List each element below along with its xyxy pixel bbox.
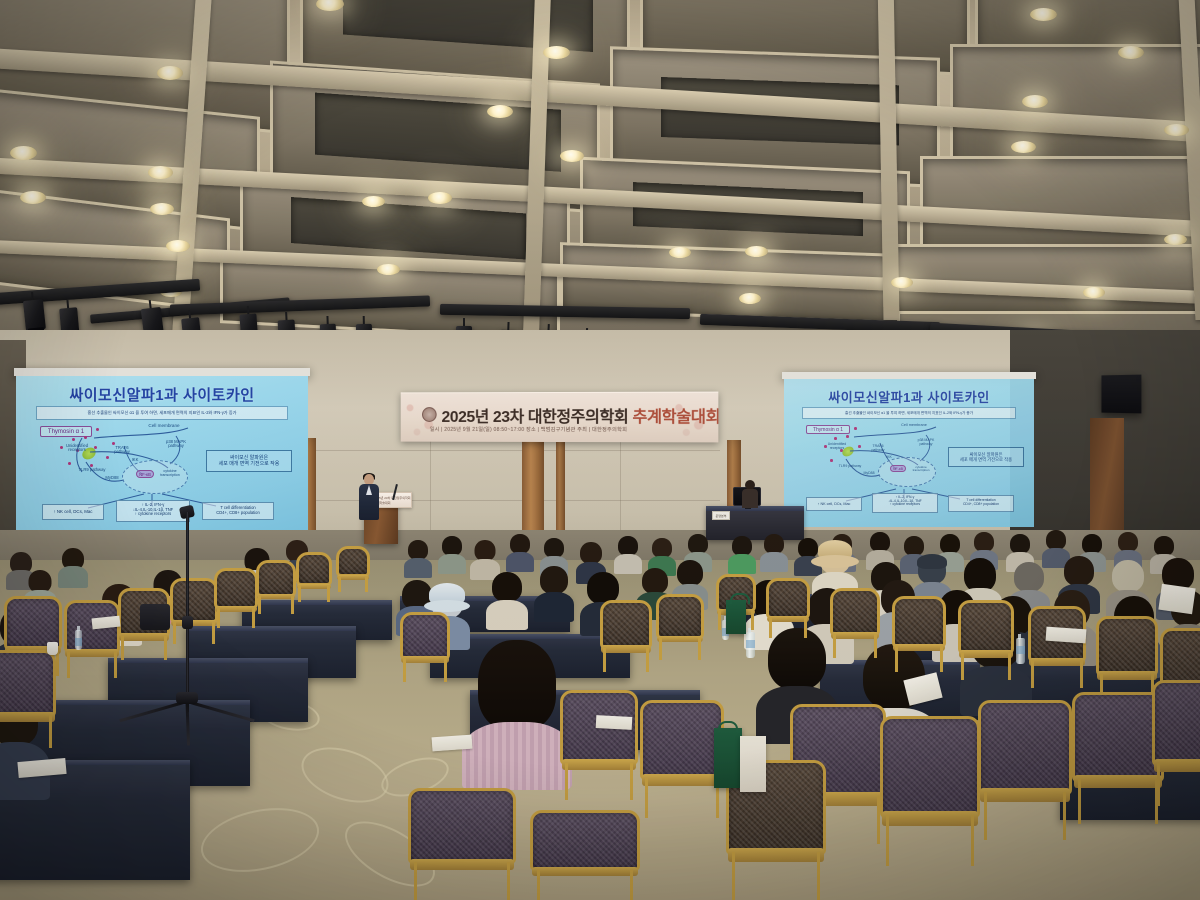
audience-member-foreground	[462, 640, 572, 790]
event-banner: 2025년 23차 대한정주의학회 추계학술대회 일시 | 2025년 9월 2…	[401, 392, 719, 443]
program-paper	[1046, 627, 1087, 644]
banner-subtitle: 일시 | 2025년 9월 21일(일) 08:50~17:00 장소 | 백범…	[430, 426, 700, 433]
banquet-chair	[64, 600, 120, 678]
banquet-chair	[256, 560, 296, 614]
ceiling-downlight	[669, 247, 691, 258]
coffer-recess	[291, 197, 526, 259]
slide-label-unidentified-receptors-right: Unidentified receptors	[822, 443, 852, 450]
banner-title-prefix: 2025년 23차 대한정주의학회	[442, 409, 633, 426]
audience-member	[404, 540, 432, 578]
banquet-chair	[170, 578, 218, 644]
ceiling-downlight	[428, 192, 452, 204]
wall-seam	[300, 450, 720, 451]
banquet-chair	[892, 596, 946, 672]
ceiling-downlight	[20, 191, 46, 204]
banquet-chair	[214, 568, 258, 628]
ceiling-downlight	[157, 66, 183, 80]
audience-member	[728, 536, 756, 574]
mic-stand-clutch	[182, 616, 193, 629]
coffer-recess	[343, 0, 593, 52]
slide-label-tlr9-right: TLR9 pathway	[838, 465, 862, 469]
ceiling-downlight	[891, 277, 913, 288]
slide-label-traf6-right: TRAF6 pathway	[866, 445, 890, 452]
ceiling-downlight	[1118, 46, 1144, 59]
handbag	[140, 604, 170, 630]
callout-line-2-right: 세포 매개 면역 기전으로 작용	[960, 457, 1012, 462]
banquet-chair	[830, 588, 880, 658]
screen-roller-right	[782, 372, 1036, 379]
banquet-chair	[766, 578, 810, 638]
banner-title-accent: 추계학술대회	[632, 409, 718, 426]
banquet-chair	[1152, 680, 1200, 806]
banquet-chair	[880, 716, 980, 866]
ceiling-downlight	[377, 264, 400, 275]
ceiling-downlight	[560, 150, 584, 162]
slide-label-cell-membrane: Cell membrane	[134, 424, 194, 429]
conference-tote-bag	[714, 728, 742, 788]
mic-stand-base	[176, 692, 198, 704]
water-bottle	[1016, 638, 1025, 664]
box-mid-line-3-right: ↑ cytokine receptors	[890, 502, 920, 506]
slide-label-cell-membrane-right: Cell membrane	[888, 423, 940, 427]
slide-box-left: ↑ NK cell, DCs, Mac	[42, 504, 104, 520]
slide-box-middle-right: ↑ IL-2, IFN-γ ↓IL-4,IL-10,IL-1β, TNF ↑ c…	[872, 493, 938, 513]
slide-label-transcription: cytokine transcription	[156, 470, 184, 478]
ceiling-coffer	[920, 156, 1200, 256]
banquet-chair	[1028, 606, 1086, 688]
slide-box-left-right: ↑ NK cell, DCs, Mac	[806, 497, 862, 511]
banquet-chair	[560, 690, 638, 800]
callout-line-2: 세포 매개 면역 기전으로 작용	[219, 461, 280, 467]
ceiling-downlight	[1164, 124, 1189, 136]
audience-member	[438, 536, 466, 574]
slide-box-right: T cell differentiation CD4+, CD8+ popula…	[202, 502, 274, 520]
operator-desk-card: 운영본부	[712, 511, 730, 520]
operator-person	[742, 480, 758, 508]
slide-label-nfkb-right: NF-κB	[890, 465, 906, 472]
audience-member	[58, 548, 88, 588]
slide-box-right-right: T cell differentiation CD4+, CD8+ popula…	[948, 495, 1014, 512]
banquet-chair	[530, 810, 640, 900]
ceiling-downlight	[362, 196, 385, 207]
conference-hall-photo: 싸이모신알파1과 사이토카인 흉선 추출물인 싸이모신 α1 을 투여 하면, …	[0, 0, 1200, 900]
banner-title: 2025년 23차 대한정주의학회 추계학술대회	[442, 403, 706, 427]
ceiling-downlight	[1030, 8, 1057, 21]
program-paper	[432, 735, 473, 752]
audience-member	[534, 566, 574, 622]
slide-label-myd88-right: MyD88	[860, 472, 878, 476]
mic-stand-pole	[186, 512, 189, 712]
ceiling-downlight	[739, 293, 761, 304]
ceiling-speaker-icon	[1101, 375, 1141, 414]
projection-screen-right[interactable]: 싸이모신알파1과 사이토카인 흉선 추출물인 싸이모신 α1 을 투여 하면, …	[784, 379, 1034, 527]
audience-member	[760, 534, 788, 572]
banquet-chair	[0, 650, 56, 748]
speaker-at-podium	[358, 474, 380, 520]
screen-roller-left	[14, 368, 310, 376]
banquet-chair	[958, 600, 1014, 680]
paper-cup	[47, 642, 58, 655]
slide-label-p38-mapk: p38 MAPK pathway	[160, 440, 192, 449]
ceiling-downlight	[150, 203, 174, 215]
carpet-pattern	[294, 737, 395, 812]
slide-label-p38-mapk-right: p38 MAPK pathway	[912, 439, 940, 446]
ceiling-downlight	[1022, 95, 1048, 108]
water-bottle	[746, 632, 755, 658]
ceiling-downlight	[1164, 234, 1187, 245]
banquet-chair	[296, 552, 332, 602]
banquet-chair	[1072, 692, 1164, 824]
banquet-chair	[600, 600, 652, 672]
banquet-chair	[978, 700, 1072, 840]
banquet-chair	[408, 788, 516, 900]
coffer-recess	[315, 93, 561, 172]
box-right-line-2: CD4+, CD8+ population	[216, 510, 259, 515]
ceiling-downlight	[1083, 287, 1105, 298]
slide-label-myd88: MyD88	[102, 476, 122, 480]
banquet-chair	[640, 700, 724, 818]
slide-label-unidentified-receptors: Unidentified receptors	[60, 444, 94, 453]
ceiling-downlight	[166, 240, 190, 252]
program-paper	[1158, 584, 1195, 614]
conference-tote-bag	[726, 600, 746, 634]
banquet-chair	[336, 546, 370, 592]
carpet-pattern	[195, 798, 325, 882]
slide-label-transcription-right: cytokine transcription	[908, 466, 934, 472]
ceiling-downlight	[148, 166, 173, 179]
program-paper	[596, 715, 633, 730]
banquet-chair	[400, 612, 450, 682]
projection-screen-left[interactable]: 싸이모신알파1과 사이토카인 흉선 추출물인 싸이모신 α1 을 투여 하면, …	[16, 376, 308, 536]
box-mid-line-3: ↑ cytokine receptors	[135, 511, 171, 516]
slide-callout: 싸이모신 알파원은 세포 매개 면역 기전으로 작용	[206, 450, 292, 472]
ceiling-downlight	[487, 105, 513, 118]
ceiling-downlight	[543, 46, 570, 59]
ceiling-downlight	[1011, 141, 1036, 153]
slide-callout-right: 싸이모신 알파원은 세포 매개 면역 기전으로 작용	[948, 447, 1024, 467]
banquet-chair	[656, 594, 704, 660]
slide-label-traf6: TRAF6 pathway	[108, 446, 136, 455]
water-bottle	[75, 630, 82, 650]
slide-label-nfkb: NF-κB	[136, 470, 154, 478]
ceiling-downlight	[10, 146, 37, 160]
society-emblem-icon	[422, 407, 437, 422]
stage-spotlight	[22, 291, 46, 331]
ceiling-downlight	[745, 246, 768, 257]
box-right-line-2-right: CD4+, CD8+ population	[963, 502, 999, 506]
conference-tote-bag-white	[740, 736, 766, 792]
audience-member	[486, 572, 528, 630]
slide-label-tlr9: TLR9 pathway	[78, 468, 106, 472]
audience-member	[506, 534, 534, 572]
banquet-chair	[1096, 616, 1158, 704]
